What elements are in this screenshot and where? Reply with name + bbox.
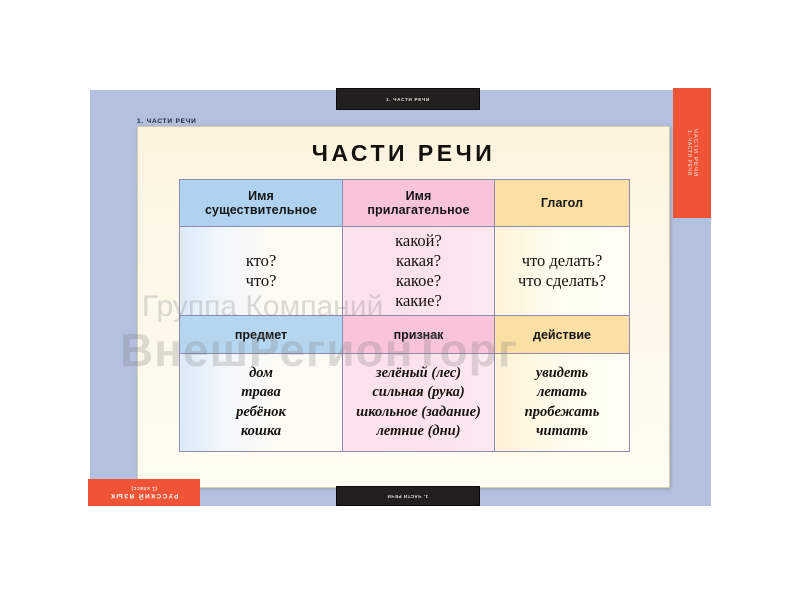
cell-line: дом [180,364,342,383]
cell-line: пробежать [495,403,629,422]
cell-meaning-noun: предмет [180,316,343,354]
cell-line: увидеть [495,364,629,383]
cell-lines: какой?какая?какое?какие? [343,231,494,312]
cell-questions-adjective: какой?какая?какое?какие? [343,227,495,316]
spine-line-1: ЧАСТИ РЕЧИ [692,129,698,178]
table-row-questions: кто?что? какой?какая?какое?какие? что де… [180,227,630,316]
table-header-row: Имя существительное Имя прилагательное [180,180,630,227]
cell-line: признак [343,328,494,342]
cell-questions-noun: кто?что? [180,227,343,316]
column-header-noun: Имя существительное [180,180,343,227]
page-title: ЧАСТИ РЕЧИ [138,140,669,167]
header-line: Имя [180,189,342,203]
subject-grade: (1 класс) [131,486,157,492]
header-line: прилагательное [343,203,494,217]
cell-line: кошка [180,422,342,441]
cell-line: летать [495,383,629,402]
poster-frame: 1. ЧАСТИ РЕЧИ ЧАСТИ РЕЧИ Имя существител… [90,90,711,506]
cell-lines: признак [343,328,494,342]
cell-line: действие [495,328,629,342]
cell-examples-adjective: зелёный (лес)сильная (рука)школьное (зад… [343,354,495,452]
cell-lines: что делать?что сделать? [495,251,629,291]
subject-title: РУССКИЙ ЯЗЫК [110,493,179,500]
cell-lines: домтраваребёноккошка [180,364,342,441]
cell-line: сильная (рука) [343,383,494,402]
cell-line: что сделать? [495,271,629,291]
top-edge-tab-label: 1. ЧАСТИ РЕЧИ [386,97,430,102]
cell-examples-verb: увидетьлетатьпробежатьчитать [495,354,630,452]
table-row-meaning: предмет признак действие [180,316,630,354]
cell-meaning-adjective: признак [343,316,495,354]
column-header-verb: Глагол [495,180,630,227]
screenshot-canvas: 1. ЧАСТИ РЕЧИ ЧАСТИ РЕЧИ Имя существител… [0,0,800,600]
cell-line: кто? [180,251,342,271]
cell-line: ребёнок [180,403,342,422]
top-edge-tab: 1. ЧАСТИ РЕЧИ [336,88,480,110]
cell-lines: действие [495,328,629,342]
spine-line-2: 1. ЧАСТИ РЕЧИ [686,129,692,178]
column-header-adjective-lines: Имя прилагательное [343,189,494,217]
cell-line: предмет [180,328,342,342]
cell-line: что делать? [495,251,629,271]
cell-meaning-verb: действие [495,316,630,354]
cell-line: какая? [343,251,494,271]
column-header-adjective: Имя прилагательное [343,180,495,227]
cell-line: какие? [343,291,494,311]
cell-line: трава [180,383,342,402]
cell-line: какое? [343,271,494,291]
cell-lines: кто?что? [180,251,342,291]
subject-corner-label: РУССКИЙ ЯЗЫК (1 класс) [88,479,200,506]
parts-of-speech-table: Имя существительное Имя прилагательное [179,179,630,452]
cell-line: школьное (задание) [343,403,494,422]
column-header-verb-lines: Глагол [495,196,629,210]
spine-strip-label: ЧАСТИ РЕЧИ 1. ЧАСТИ РЕЧИ [686,129,698,178]
cell-examples-noun: домтраваребёноккошка [180,354,343,452]
cell-line: летние (дни) [343,422,494,441]
column-header-noun-lines: Имя существительное [180,189,342,217]
cell-questions-verb: что делать?что сделать? [495,227,630,316]
cell-line: читать [495,422,629,441]
header-line: Имя [343,189,494,203]
cell-lines: предмет [180,328,342,342]
poster-sheet: ЧАСТИ РЕЧИ Имя существительное [137,126,670,488]
cell-lines: зелёный (лес)сильная (рука)школьное (зад… [343,364,494,441]
cell-line: зелёный (лес) [343,364,494,383]
cell-line: что? [180,271,342,291]
cell-lines: увидетьлетатьпробежатьчитать [495,364,629,441]
table-row-examples: домтраваребёноккошка зелёный (лес)сильна… [180,354,630,452]
frame-label: 1. ЧАСТИ РЕЧИ [137,118,197,125]
cell-line: какой? [343,231,494,251]
spine-strip: ЧАСТИ РЕЧИ 1. ЧАСТИ РЕЧИ [673,88,711,218]
bottom-edge-tab: 1. ЧАСТИ РЕЧИ [336,486,480,506]
bottom-edge-tab-label: 1. ЧАСТИ РЕЧИ [387,494,428,499]
header-line: Глагол [495,196,629,210]
header-line: существительное [180,203,342,217]
